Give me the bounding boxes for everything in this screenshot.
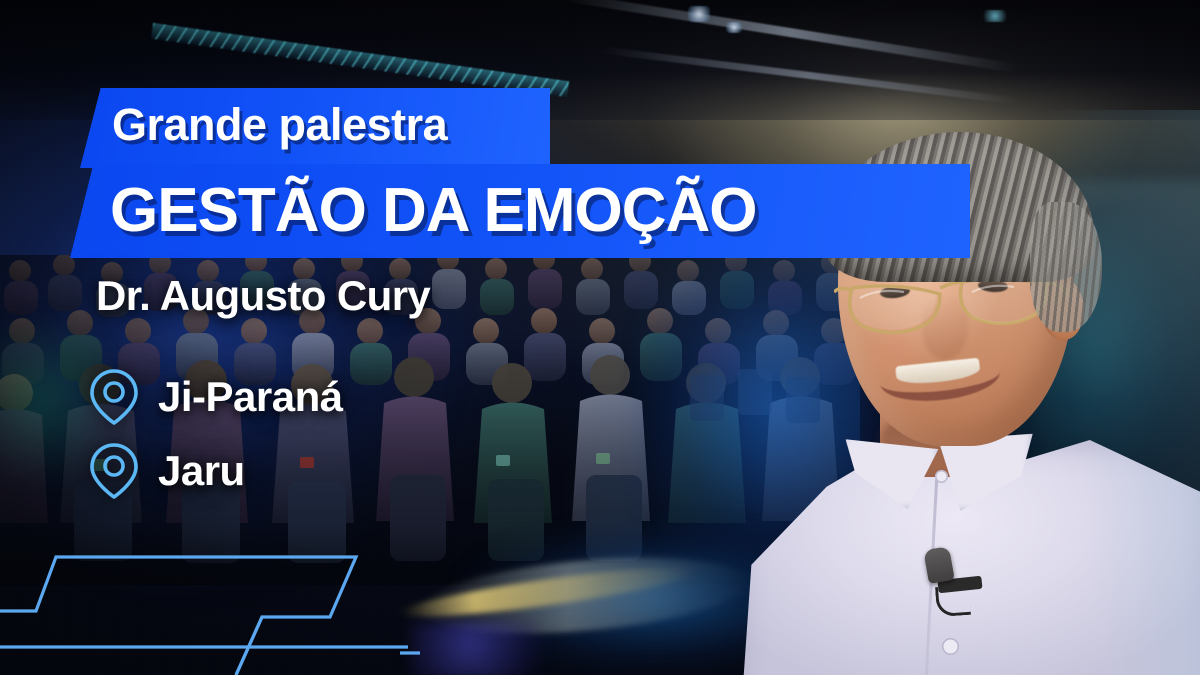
location-name: Jaru (158, 447, 245, 495)
stage-lamp-icon (688, 6, 710, 22)
hair-side (1030, 202, 1102, 332)
location-item: Jaru (88, 442, 245, 500)
left-green-glow (0, 300, 100, 500)
kicker-text: Grande palestra (112, 99, 447, 151)
location-name: Ji-Paraná (158, 373, 343, 421)
shirt-button (942, 638, 959, 655)
page-title: GESTÃO DA EMOÇÃO (110, 175, 757, 246)
location-pin-icon (88, 368, 140, 426)
shirt-button (935, 470, 948, 483)
speaker-name: Dr. Augusto Cury (96, 272, 430, 320)
location-item: Ji-Paraná (88, 368, 343, 426)
stage-lamp-icon (980, 10, 1010, 22)
stage-lamp-icon (726, 22, 742, 33)
location-pin-icon (88, 442, 140, 500)
promo-banner: Grande palestra GESTÃO DA EMOÇÃO Dr. Aug… (0, 0, 1200, 675)
geometric-line-graphic (0, 525, 420, 675)
purple-light-blob (410, 622, 560, 675)
